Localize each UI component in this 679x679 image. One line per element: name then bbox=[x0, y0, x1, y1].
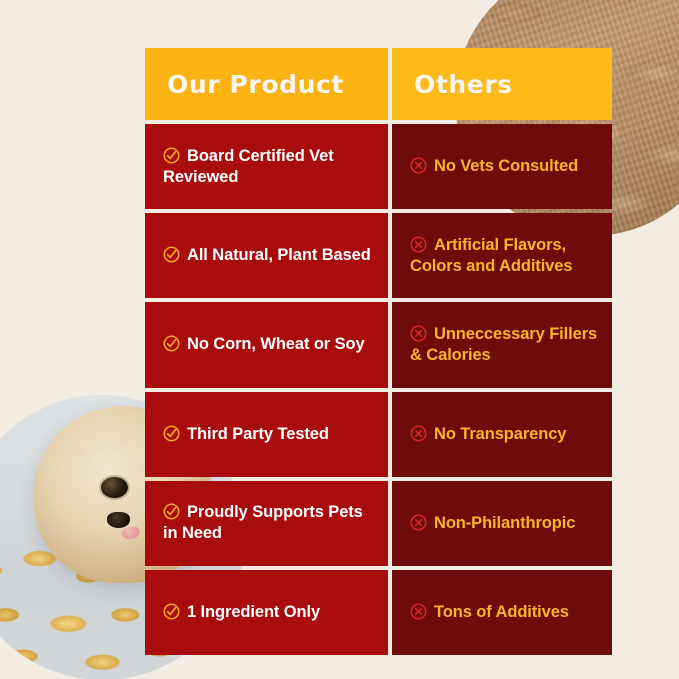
table-row: Third Party Tested bbox=[145, 392, 388, 477]
table-row: Non-Philanthropic bbox=[392, 481, 612, 566]
row-label-ours: Board Certified Vet Reviewed bbox=[163, 147, 334, 186]
table-row: All Natural, Plant Based bbox=[145, 213, 388, 298]
row-label-ours: All Natural, Plant Based bbox=[187, 246, 371, 264]
row-label-theirs: No Vets Consulted bbox=[434, 157, 578, 175]
cross-circle-icon bbox=[410, 236, 427, 253]
dog-nose bbox=[107, 512, 130, 528]
table-row: Board Certified Vet Reviewed bbox=[145, 124, 388, 209]
row-label-theirs: Artificial Flavors, Colors and Additives bbox=[410, 236, 572, 275]
table-row: Artificial Flavors, Colors and Additives bbox=[392, 213, 612, 298]
check-circle-icon bbox=[163, 425, 180, 442]
table-row: Unneccessary Fillers & Calories bbox=[392, 302, 612, 387]
check-circle-icon bbox=[163, 503, 180, 520]
dog-tongue bbox=[121, 525, 141, 541]
row-label-theirs: Unneccessary Fillers & Calories bbox=[410, 325, 597, 364]
check-circle-icon bbox=[163, 147, 180, 164]
product-comparison-graphic: Our Product Board Certified Vet Reviewed bbox=[0, 0, 679, 679]
cross-circle-icon bbox=[410, 325, 427, 342]
dog-eye bbox=[101, 477, 128, 498]
check-circle-icon bbox=[163, 335, 180, 352]
cross-circle-icon bbox=[410, 514, 427, 531]
table-row: Proudly Supports Pets in Need bbox=[145, 481, 388, 566]
row-label-ours: Third Party Tested bbox=[187, 425, 329, 443]
column-others: Others No Vets Consulted bbox=[392, 48, 612, 655]
table-row: No Vets Consulted bbox=[392, 124, 612, 209]
row-label-theirs: Tons of Additives bbox=[434, 603, 569, 621]
row-label-ours: Proudly Supports Pets in Need bbox=[163, 503, 363, 542]
table-row: No Transparency bbox=[392, 392, 612, 477]
column-header-our-product: Our Product bbox=[145, 48, 388, 120]
row-label-theirs: Non-Philanthropic bbox=[434, 514, 575, 532]
column-header-others: Others bbox=[392, 48, 612, 120]
row-label-theirs: No Transparency bbox=[434, 425, 566, 443]
comparison-table: Our Product Board Certified Vet Reviewed bbox=[145, 48, 612, 655]
column-our-product: Our Product Board Certified Vet Reviewed bbox=[145, 48, 388, 655]
cross-circle-icon bbox=[410, 157, 427, 174]
table-row: Tons of Additives bbox=[392, 570, 612, 655]
check-circle-icon bbox=[163, 246, 180, 263]
row-label-ours: No Corn, Wheat or Soy bbox=[187, 335, 365, 353]
check-circle-icon bbox=[163, 603, 180, 620]
table-row: 1 Ingredient Only bbox=[145, 570, 388, 655]
cross-circle-icon bbox=[410, 425, 427, 442]
row-label-ours: 1 Ingredient Only bbox=[187, 603, 320, 621]
table-row: No Corn, Wheat or Soy bbox=[145, 302, 388, 387]
cross-circle-icon bbox=[410, 603, 427, 620]
